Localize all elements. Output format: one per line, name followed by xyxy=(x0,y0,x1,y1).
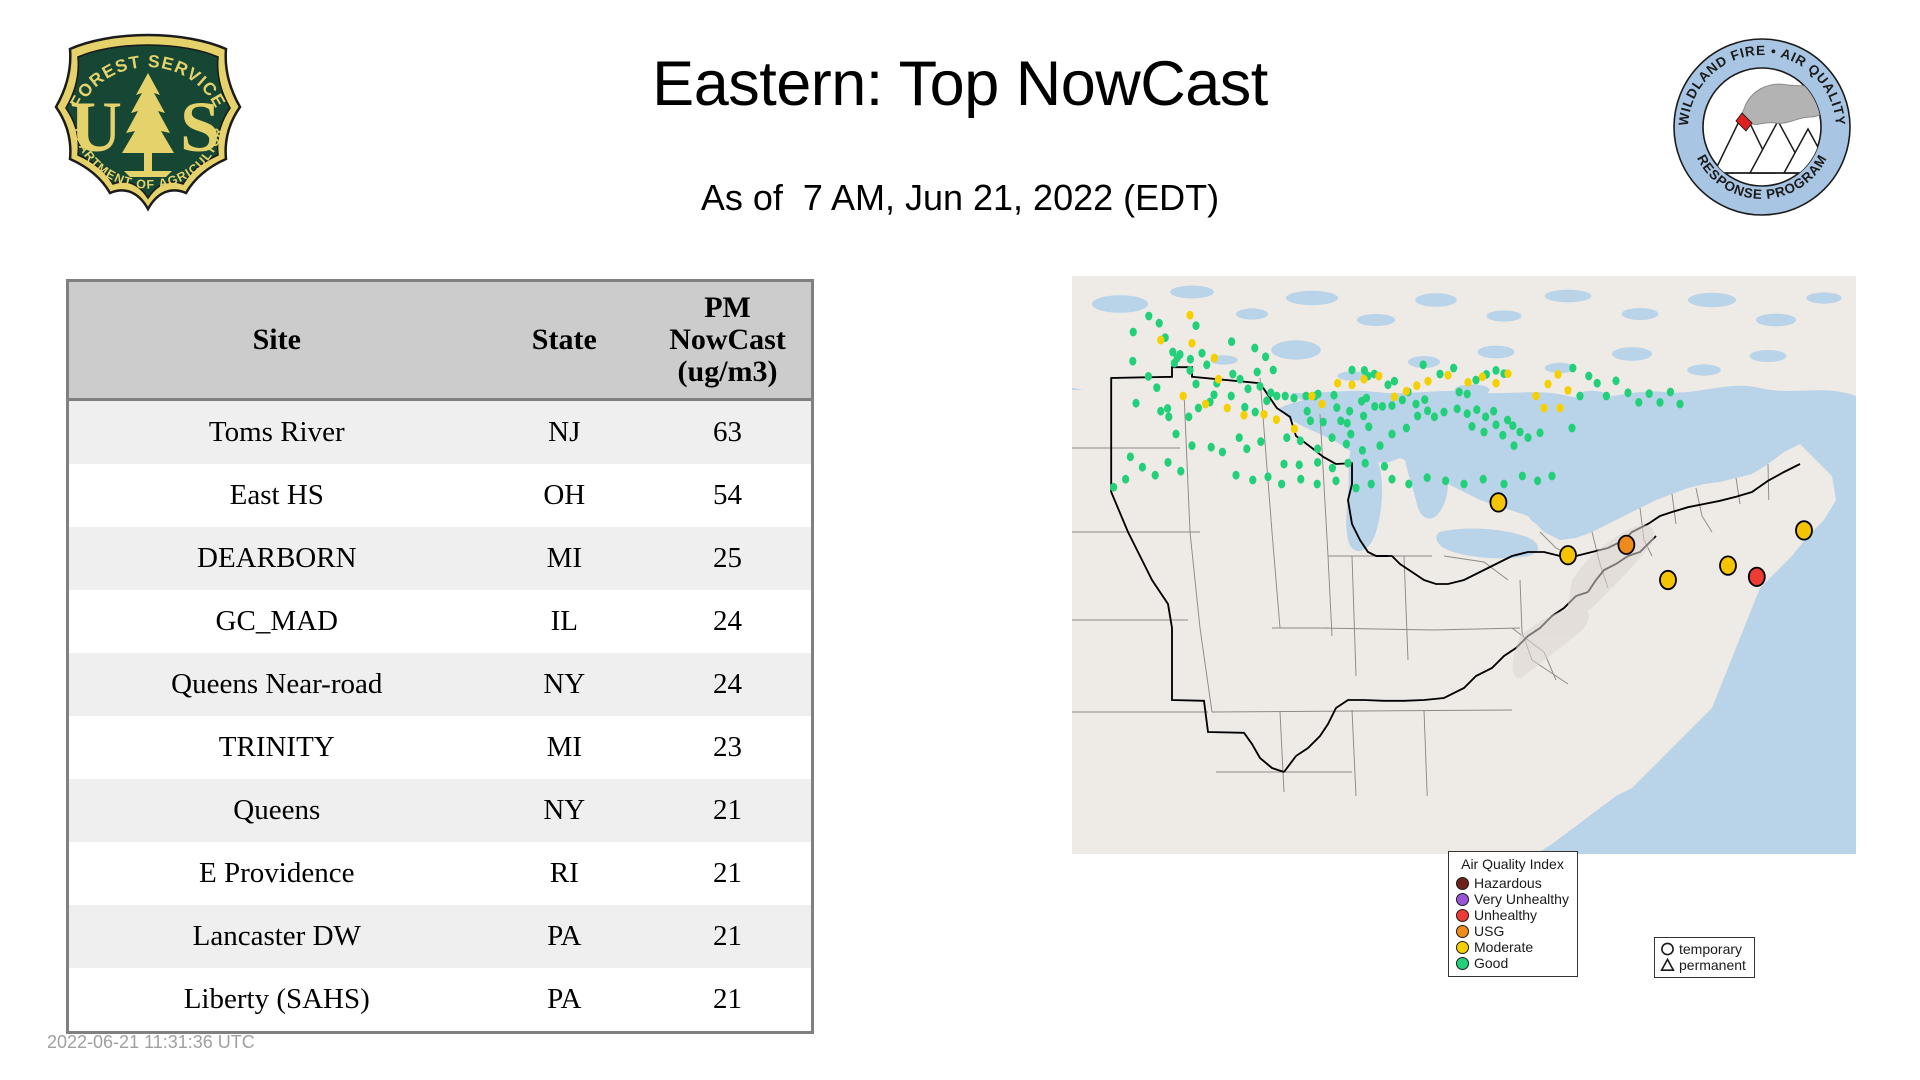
monitor-dot[interactable] xyxy=(1252,408,1259,417)
monitor-dot[interactable] xyxy=(1492,420,1499,429)
cell-site: TRINITY xyxy=(69,716,485,779)
monitor-dot[interactable] xyxy=(1585,372,1592,381)
cell-value: 24 xyxy=(644,590,811,653)
monitor-dot[interactable] xyxy=(1603,392,1610,401)
monitor-dot[interactable] xyxy=(1454,404,1461,413)
monitor-dot[interactable] xyxy=(1251,344,1258,353)
monitor-dot[interactable] xyxy=(1468,422,1475,431)
monitor-dot[interactable] xyxy=(1676,400,1683,409)
page-subtitle: As of 7 AM, Jun 21, 2022 (EDT) xyxy=(0,178,1920,218)
table-header: Site State PM NowCast (ug/m3) xyxy=(69,282,811,400)
monitor-dot[interactable] xyxy=(1244,384,1251,393)
monitor-dot[interactable] xyxy=(1308,392,1315,401)
monitor-dot[interactable] xyxy=(1524,433,1531,442)
cell-state: MI xyxy=(485,527,645,590)
monitor-dot[interactable] xyxy=(1490,407,1497,416)
monitor-dot[interactable] xyxy=(1256,382,1263,391)
cell-site: Lancaster DW xyxy=(69,905,485,968)
monitor-dot[interactable] xyxy=(1177,467,1184,476)
monitor-dot[interactable] xyxy=(1198,349,1205,358)
nowcast-table-panel: Site State PM NowCast (ug/m3) Toms River… xyxy=(66,279,814,1034)
table-row[interactable]: DEARBORNMI25 xyxy=(69,527,811,590)
monitor-dot[interactable] xyxy=(1232,471,1239,480)
monitor-dot[interactable] xyxy=(1348,380,1355,389)
monitor-dot[interactable] xyxy=(1304,407,1311,416)
table-row[interactable]: TRINITYMI23 xyxy=(69,716,811,779)
cell-state: NJ xyxy=(485,400,645,465)
monitor-dot[interactable] xyxy=(1456,388,1463,397)
monitor-dot[interactable] xyxy=(1157,407,1164,416)
monitor-dot[interactable] xyxy=(1314,444,1321,453)
monitor-dot[interactable] xyxy=(1482,412,1489,421)
monitor-dot[interactable] xyxy=(1480,428,1487,437)
station-type-legend: temporary permanent xyxy=(1654,937,1755,978)
monitor-dot[interactable] xyxy=(1257,437,1264,446)
monitor-dot[interactable] xyxy=(1413,381,1420,390)
monitor-dot[interactable] xyxy=(1164,458,1171,467)
monitor-dot[interactable] xyxy=(1241,403,1248,412)
monitor-dot[interactable] xyxy=(1464,390,1471,399)
aqi-legend: Air Quality Index HazardousVery Unhealth… xyxy=(1448,851,1578,977)
aqi-legend-label: Very Unhealthy xyxy=(1474,891,1569,907)
monitor-dot[interactable] xyxy=(1536,428,1543,437)
monitor-dot[interactable] xyxy=(1365,422,1372,431)
column-header-pm-nowcast[interactable]: PM NowCast (ug/m3) xyxy=(644,282,811,400)
cell-site: East HS xyxy=(69,464,485,527)
monitor-dot[interactable] xyxy=(1188,339,1195,348)
cell-value: 23 xyxy=(644,716,811,779)
monitor-dot[interactable] xyxy=(1249,476,1256,485)
monitor-dot[interactable] xyxy=(1534,476,1541,485)
monitor-dot[interactable] xyxy=(1165,412,1172,421)
cell-state: IL xyxy=(485,590,645,653)
monitor-dot[interactable] xyxy=(1405,480,1412,489)
cell-site: E Providence xyxy=(69,842,485,905)
monitor-dot[interactable] xyxy=(1344,459,1351,468)
air-quality-map[interactable] xyxy=(1072,276,1856,854)
monitor-dot[interactable] xyxy=(1208,443,1215,452)
monitor-dot[interactable] xyxy=(1346,407,1353,416)
monitor-dot[interactable] xyxy=(1556,404,1563,413)
monitor-dot[interactable] xyxy=(1464,409,1471,418)
monitor-dot[interactable] xyxy=(1278,480,1285,489)
monitor-dot[interactable] xyxy=(1519,472,1526,481)
cell-state: OH xyxy=(485,464,645,527)
monitor-dot[interactable] xyxy=(1187,355,1194,364)
monitor-dot[interactable] xyxy=(1219,448,1226,457)
station-glyph-column xyxy=(1660,941,1675,973)
monitor-dot[interactable] xyxy=(1260,410,1267,419)
monitor-dot[interactable] xyxy=(1499,431,1506,440)
monitor-dot[interactable] xyxy=(1540,404,1547,413)
monitor-dot[interactable] xyxy=(1164,404,1171,413)
monitor-dot[interactable] xyxy=(1110,483,1117,492)
monitor-dot[interactable] xyxy=(1371,402,1378,411)
monitor-dot[interactable] xyxy=(1516,428,1523,437)
monitor-dot[interactable] xyxy=(1403,387,1410,396)
cell-value: 21 xyxy=(644,968,811,1031)
monitor-dot[interactable] xyxy=(1129,357,1136,366)
monitor-dot[interactable] xyxy=(1359,446,1366,455)
monitor-dot[interactable] xyxy=(1333,403,1340,412)
monitor-dot[interactable] xyxy=(1796,521,1812,539)
monitor-dot[interactable] xyxy=(1388,401,1395,410)
monitor-dot[interactable] xyxy=(1444,371,1451,380)
monitor-dot[interactable] xyxy=(1361,366,1368,375)
monitor-dot[interactable] xyxy=(1332,476,1339,485)
monitor-dot[interactable] xyxy=(1254,368,1261,377)
cell-site: Queens xyxy=(69,779,485,842)
monitor-dot[interactable] xyxy=(1127,452,1134,461)
monitor-dot[interactable] xyxy=(1612,376,1619,385)
table-row[interactable]: Toms RiverNJ63 xyxy=(69,400,811,465)
monitor-dot[interactable] xyxy=(1388,430,1395,439)
cell-state: NY xyxy=(485,779,645,842)
monitor-dot[interactable] xyxy=(1240,411,1247,420)
monitor-dot[interactable] xyxy=(1424,377,1431,386)
monitor-dot[interactable] xyxy=(1328,433,1335,442)
monitor-dot[interactable] xyxy=(1424,406,1431,415)
monitor-dot[interactable] xyxy=(1560,546,1576,564)
monitor-dot[interactable] xyxy=(1264,472,1271,481)
cell-state: PA xyxy=(485,968,645,1031)
monitor-dot[interactable] xyxy=(1270,366,1277,375)
station-legend-label-temporary: temporary xyxy=(1679,941,1746,957)
monitor-dot[interactable] xyxy=(1479,372,1486,381)
table-row[interactable]: Liberty (SAHS)PA21 xyxy=(69,968,811,1031)
table-row[interactable]: East HSOH54 xyxy=(69,464,811,527)
cell-site: GC_MAD xyxy=(69,590,485,653)
monitor-dot[interactable] xyxy=(1314,458,1321,467)
cell-value: 21 xyxy=(644,905,811,968)
monitor-dot[interactable] xyxy=(1544,380,1551,389)
aqi-legend-label: Good xyxy=(1474,955,1508,971)
column-header-site[interactable]: Site xyxy=(69,282,485,400)
monitor-dot[interactable] xyxy=(1532,392,1539,401)
monitor-dot[interactable] xyxy=(1564,386,1571,395)
monitor-dot[interactable] xyxy=(1363,394,1370,403)
cell-value: 63 xyxy=(644,400,811,465)
table-header-row: Site State PM NowCast (ug/m3) xyxy=(69,282,811,400)
monitor-dot[interactable] xyxy=(1152,471,1159,480)
cell-value: 21 xyxy=(644,779,811,842)
monitor-dot[interactable] xyxy=(1548,472,1555,481)
monitor-dot[interactable] xyxy=(1667,388,1674,397)
us-forest-service-logo: FOREST SERVICE DEPARTMENT OF AGRICULTURE… xyxy=(48,29,248,219)
cell-site: Queens Near-road xyxy=(69,653,485,716)
monitor-dot[interactable] xyxy=(1307,416,1314,425)
nowcast-table: Site State PM NowCast (ug/m3) Toms River… xyxy=(69,282,811,1031)
monitor-dot[interactable] xyxy=(1192,321,1199,330)
monitor-dot[interactable] xyxy=(1464,378,1471,387)
aqi-legend-item: Very Unhealthy xyxy=(1456,891,1569,907)
monitor-dot[interactable] xyxy=(1224,404,1231,413)
monitor-dot[interactable] xyxy=(1229,370,1236,379)
aqi-legend-item: Good xyxy=(1456,955,1569,971)
monitor-dot[interactable] xyxy=(1171,359,1178,368)
monitor-dot[interactable] xyxy=(1388,475,1395,484)
monitor-dot[interactable] xyxy=(1384,380,1391,389)
monitor-dot[interactable] xyxy=(1450,364,1457,373)
aqi-legend-item: USG xyxy=(1456,923,1569,939)
monitor-dot[interactable] xyxy=(1215,375,1222,384)
monitor-dot[interactable] xyxy=(1188,441,1195,450)
monitor-dot[interactable] xyxy=(1436,370,1443,379)
monitor-dot[interactable] xyxy=(1180,392,1187,401)
aqi-legend-item: Unhealthy xyxy=(1456,907,1569,923)
monitor-dot[interactable] xyxy=(1510,441,1517,450)
monitor-dot[interactable] xyxy=(1492,366,1499,375)
monitor-dot[interactable] xyxy=(1431,412,1438,421)
table-row[interactable]: E ProvidenceRI21 xyxy=(69,842,811,905)
monitor-dot[interactable] xyxy=(1344,419,1351,428)
monitor-dot[interactable] xyxy=(1490,493,1506,511)
monitor-dot[interactable] xyxy=(1460,480,1467,489)
monitor-dot[interactable] xyxy=(1172,430,1179,439)
monitor-dot[interactable] xyxy=(1379,402,1386,411)
station-legend-label-permanent: permanent xyxy=(1679,957,1746,973)
monitor-dot[interactable] xyxy=(1273,392,1280,401)
monitor-dot[interactable] xyxy=(1156,319,1163,328)
monitor-dot[interactable] xyxy=(1262,352,1269,361)
monitor-dot[interactable] xyxy=(1132,399,1139,408)
monitor-dot[interactable] xyxy=(1318,400,1325,409)
monitor-dot[interactable] xyxy=(1343,440,1350,449)
monitor-dot[interactable] xyxy=(1594,379,1601,388)
cell-site: Liberty (SAHS) xyxy=(69,968,485,1031)
monitor-dot[interactable] xyxy=(1185,412,1192,421)
monitor-dot[interactable] xyxy=(1195,404,1202,413)
aqi-swatch-icon xyxy=(1456,893,1469,906)
monitor-dot[interactable] xyxy=(1263,396,1270,405)
monitor-dot[interactable] xyxy=(1236,433,1243,442)
monitor-dot[interactable] xyxy=(1442,476,1449,485)
monitor-dot[interactable] xyxy=(1236,375,1243,384)
aqi-legend-title: Air Quality Index xyxy=(1456,856,1569,872)
aqi-legend-label: Unhealthy xyxy=(1474,907,1537,923)
monitor-dot[interactable] xyxy=(1243,444,1250,453)
column-header-state[interactable]: State xyxy=(485,282,645,400)
table-row[interactable]: Queens Near-roadNY24 xyxy=(69,653,811,716)
shield-letter-u: U xyxy=(70,87,122,167)
monitor-dot[interactable] xyxy=(1283,433,1290,442)
monitor-dot[interactable] xyxy=(1420,360,1427,369)
aqi-swatch-icon xyxy=(1456,941,1469,954)
cell-value: 21 xyxy=(644,842,811,905)
monitor-dot[interactable] xyxy=(1720,556,1736,574)
monitor-dot[interactable] xyxy=(1337,416,1344,425)
cell-state: NY xyxy=(485,653,645,716)
monitor-dot[interactable] xyxy=(1414,412,1421,421)
aqi-swatch-icon xyxy=(1456,877,1469,890)
monitor-dot[interactable] xyxy=(1291,424,1298,433)
cell-state: RI xyxy=(485,842,645,905)
monitor-dot[interactable] xyxy=(1348,366,1355,375)
aqi-legend-label: USG xyxy=(1474,923,1504,939)
aqi-swatch-icon xyxy=(1456,957,1469,970)
monitor-dot[interactable] xyxy=(1554,370,1561,379)
cell-value: 24 xyxy=(644,653,811,716)
monitor-dot[interactable] xyxy=(1314,480,1321,489)
monitor-dot[interactable] xyxy=(1347,430,1354,439)
aqi-swatch-icon xyxy=(1456,909,1469,922)
monitor-dot[interactable] xyxy=(1273,415,1280,424)
monitor-dot[interactable] xyxy=(1329,464,1336,473)
monitor-dot[interactable] xyxy=(1228,337,1235,346)
monitor-dot[interactable] xyxy=(1352,484,1359,493)
monitor-dot[interactable] xyxy=(1412,400,1419,409)
monitor-dot[interactable] xyxy=(1391,392,1398,401)
monitor-dot[interactable] xyxy=(1186,311,1193,320)
monitor-dot[interactable] xyxy=(1472,376,1479,385)
monitor-dot[interactable] xyxy=(1473,405,1480,414)
monitor-dot[interactable] xyxy=(1569,364,1576,373)
monitor-dot[interactable] xyxy=(1492,379,1499,388)
cell-state: MI xyxy=(485,716,645,779)
monitor-dot[interactable] xyxy=(1568,424,1575,433)
table-row[interactable]: Lancaster DWPA21 xyxy=(69,905,811,968)
shield-letter-s: S xyxy=(180,87,220,167)
monitor-dot[interactable] xyxy=(1228,392,1235,401)
table-body: Toms RiverNJ63East HSOH54DEARBORNMI25GC_… xyxy=(69,400,811,1032)
cell-value: 54 xyxy=(644,464,811,527)
cell-site: DEARBORN xyxy=(69,527,485,590)
monitor-dot[interactable] xyxy=(1320,418,1327,427)
monitor-dot[interactable] xyxy=(1509,421,1516,430)
monitor-dot[interactable] xyxy=(1192,380,1199,389)
permanent-triangle-icon xyxy=(1660,957,1675,973)
monitor-dot[interactable] xyxy=(1282,392,1289,401)
monitor-dot[interactable] xyxy=(1362,459,1369,468)
aqi-legend-item: Hazardous xyxy=(1456,875,1569,891)
table-row[interactable]: GC_MADIL24 xyxy=(69,590,811,653)
monitor-dot[interactable] xyxy=(1440,408,1447,417)
page-title: Eastern: Top NowCast xyxy=(0,50,1920,119)
monitor-dot[interactable] xyxy=(1297,475,1304,484)
wfaqrp-logo: WILDLAND FIRE • AIR QUALITY RESPONSE PRO… xyxy=(1672,37,1852,217)
monitor-dot[interactable] xyxy=(1153,383,1160,392)
monitor-dot[interactable] xyxy=(1399,396,1406,405)
monitor-dot[interactable] xyxy=(1297,436,1304,445)
monitor-dot[interactable] xyxy=(1145,312,1152,321)
monitor-dot[interactable] xyxy=(1376,441,1383,450)
monitor-dot[interactable] xyxy=(1368,480,1375,489)
station-label-column: temporary permanent xyxy=(1679,941,1746,973)
monitor-dot[interactable] xyxy=(1296,460,1303,469)
monitor-dot[interactable] xyxy=(1145,372,1152,381)
monitor-dot[interactable] xyxy=(1290,394,1297,403)
monitor-dot[interactable] xyxy=(1334,379,1341,388)
monitor-dot[interactable] xyxy=(1646,389,1653,398)
monitor-dot[interactable] xyxy=(1360,412,1367,421)
monitor-dot[interactable] xyxy=(1186,366,1193,375)
monitor-dot[interactable] xyxy=(1656,398,1663,407)
aqi-legend-label: Moderate xyxy=(1474,939,1533,955)
monitor-dot[interactable] xyxy=(1500,480,1507,489)
aqi-swatch-icon xyxy=(1456,925,1469,938)
monitor-dot[interactable] xyxy=(1139,463,1146,472)
monitor-dot[interactable] xyxy=(1381,462,1388,471)
monitor-dot[interactable] xyxy=(1403,424,1410,433)
cell-value: 25 xyxy=(644,527,811,590)
cell-site: Toms River xyxy=(69,400,485,465)
monitor-dot[interactable] xyxy=(1203,360,1210,369)
monitor-dot[interactable] xyxy=(1122,475,1129,484)
monitor-dot[interactable] xyxy=(1391,377,1398,386)
monitor-dot[interactable] xyxy=(1210,390,1217,399)
aqi-legend-rows: HazardousVery UnhealthyUnhealthyUSGModer… xyxy=(1456,875,1569,971)
monitor-dot[interactable] xyxy=(1504,369,1511,378)
monitor-dot[interactable] xyxy=(1660,571,1676,589)
monitor-dot[interactable] xyxy=(1635,398,1642,407)
monitor-dot[interactable] xyxy=(1130,328,1137,337)
monitor-dot[interactable] xyxy=(1330,391,1337,400)
monitor-dot[interactable] xyxy=(1421,395,1428,404)
monitor-dot[interactable] xyxy=(1624,388,1631,397)
monitor-dot[interactable] xyxy=(1749,568,1765,586)
table-row[interactable]: QueensNY21 xyxy=(69,779,811,842)
monitor-dot[interactable] xyxy=(1424,473,1431,482)
monitor-dot[interactable] xyxy=(1360,375,1367,384)
monitor-dot[interactable] xyxy=(1211,354,1218,363)
monitor-dot[interactable] xyxy=(1280,460,1287,469)
temporary-circle-icon xyxy=(1660,941,1675,957)
cell-state: PA xyxy=(485,905,645,968)
monitor-dot[interactable] xyxy=(1157,336,1164,345)
monitor-dot[interactable] xyxy=(1202,400,1209,409)
monitor-dot[interactable] xyxy=(1576,392,1583,401)
footer-timestamp: 2022-06-21 11:31:36 UTC xyxy=(47,1032,255,1053)
monitor-dot[interactable] xyxy=(1618,536,1634,554)
aqi-legend-label: Hazardous xyxy=(1474,875,1542,891)
monitor-dot[interactable] xyxy=(1480,475,1487,484)
aqi-legend-item: Moderate xyxy=(1456,939,1569,955)
monitor-dot[interactable] xyxy=(1375,372,1382,381)
